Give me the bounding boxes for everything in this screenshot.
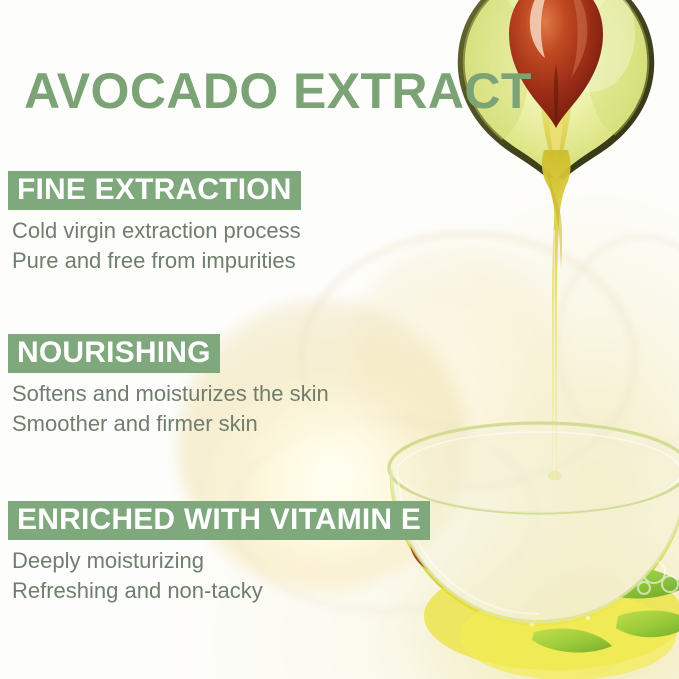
feature-lines-fine-extraction: Cold virgin extraction process Pure and … (12, 216, 301, 276)
feature-line: Cold virgin extraction process (12, 216, 301, 246)
feature-line: Softens and moisturizes the skin (12, 379, 329, 409)
page-title: AVOCADO EXTRACT (24, 66, 532, 116)
avocado-extract-poster: AVOCADO EXTRACT FINE EXTRACTION Cold vir… (0, 0, 679, 679)
feature-block-nourishing: NOURISHING Softens and moisturizes the s… (0, 334, 329, 439)
feature-line: Smoother and firmer skin (12, 409, 329, 439)
feature-heading-vitamin-e: ENRICHED WITH VITAMIN E (8, 501, 430, 540)
feature-heading-nourishing: NOURISHING (8, 334, 220, 373)
feature-line: Pure and free from impurities (12, 246, 301, 276)
feature-lines-nourishing: Softens and moisturizes the skin Smoothe… (12, 379, 329, 439)
feature-block-vitamin-e: ENRICHED WITH VITAMIN E Deeply moisturiz… (0, 501, 430, 606)
feature-lines-vitamin-e: Deeply moisturizing Refreshing and non-t… (12, 546, 430, 606)
feature-line: Deeply moisturizing (12, 546, 430, 576)
feature-heading-fine-extraction: FINE EXTRACTION (8, 171, 301, 210)
poster-text-content: AVOCADO EXTRACT FINE EXTRACTION Cold vir… (0, 0, 679, 679)
feature-block-fine-extraction: FINE EXTRACTION Cold virgin extraction p… (0, 171, 301, 276)
feature-line: Refreshing and non-tacky (12, 576, 430, 606)
